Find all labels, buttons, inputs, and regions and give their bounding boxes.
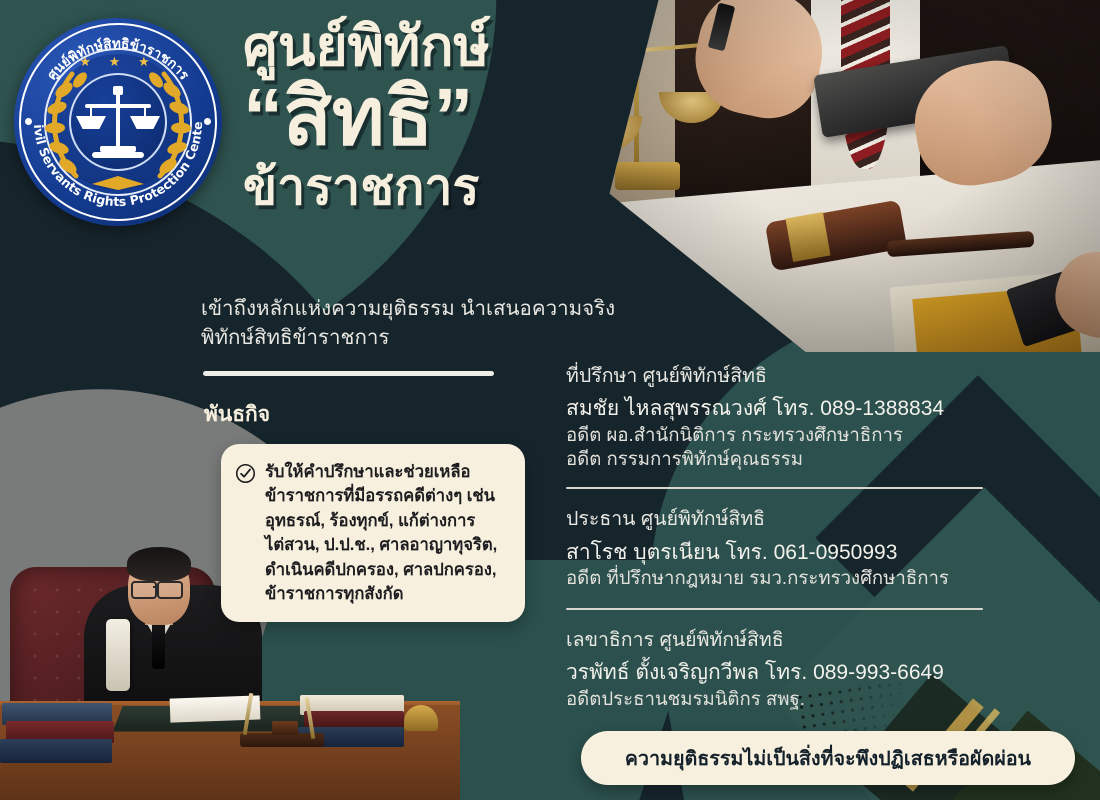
contact-block-advisor: ที่ปรึกษา ศูนย์พิทักษ์สิทธิ สมชัย ไหลสุพ…	[566, 362, 986, 470]
contact-detail-1: อดีต ที่ปรึกษากฎหมาย รมว.กระทรวงศึกษาธิก…	[566, 566, 986, 590]
subtitle-line-1: เข้าถึงหลักแห่งความยุติธรรม นำเสนอความจร…	[201, 294, 631, 323]
poster-root: ศูนย์พิทักษ์สิทธิข้าราชการ Civil Servant…	[0, 0, 1100, 800]
contact-detail-1: อดีตประธานชมรมนิติกร สพฐ.	[566, 687, 986, 711]
title-line-2: “สิทธิ”	[243, 76, 573, 158]
mission-heading: พันธกิจ	[204, 398, 270, 431]
lawyer-photo	[555, 0, 1100, 352]
contact-detail-2: อดีต กรรมการพิทักษ์คุณธรรม	[566, 447, 986, 471]
left-divider	[203, 371, 494, 376]
slogan-text: ความยุติธรรมไม่เป็นสิ่งที่จะพึงปฏิเสธหรื…	[625, 743, 1031, 774]
subtitle-line-2: พิทักษ์สิทธิข้าราชการ	[201, 323, 631, 352]
contact-name-and-phone[interactable]: สมชัย ไหลสุพรรณวงศ์ โทร. 089-1388834	[566, 396, 986, 423]
slogan-banner: ความยุติธรรมไม่เป็นสิ่งที่จะพึงปฏิเสธหรื…	[581, 731, 1075, 785]
contact-name-and-phone[interactable]: สาโรช บุตรเนียน โทร. 061-0950993	[566, 540, 986, 567]
contact-role: เลขาธิการ ศูนย์พิทักษ์สิทธิ	[566, 626, 986, 655]
contact-role: ประธาน ศูนย์พิทักษ์สิทธิ	[566, 505, 986, 534]
contact-name-and-phone[interactable]: วรพัทธ์ ตั้งเจริญกวีพล โทร. 089-993-6649	[566, 660, 986, 687]
organization-logo: ศูนย์พิทักษ์สิทธิข้าราชการ Civil Servant…	[14, 18, 222, 226]
contact-divider-2	[566, 608, 983, 610]
contact-block-president: ประธาน ศูนย์พิทักษ์สิทธิ สาโรช บุตรเนียน…	[566, 505, 986, 590]
contact-divider-1	[566, 487, 983, 489]
title-line-1: ศูนย์พิทักษ์	[243, 18, 573, 74]
scales-of-justice-icon	[80, 84, 156, 164]
subtitle: เข้าถึงหลักแห่งความยุติธรรม นำเสนอความจร…	[201, 294, 631, 352]
page-title: ศูนย์พิทักษ์ “สิทธิ” ข้าราชการ	[243, 18, 573, 213]
title-line-3: ข้าราชการ	[243, 162, 573, 213]
contact-role: ที่ปรึกษา ศูนย์พิทักษ์สิทธิ	[566, 362, 986, 391]
contact-detail-1: อดีต ผอ.สำนักนิติการ กระทรวงศึกษาธิการ	[566, 423, 986, 447]
contacts-section: ที่ปรึกษา ศูนย์พิทักษ์สิทธิ สมชัย ไหลสุพ…	[566, 362, 986, 711]
mission-text: รับให้คำปรึกษาและช่วยเหลือข้าราชการที่มี…	[265, 460, 509, 606]
contact-block-secretary: เลขาธิการ ศูนย์พิทักษ์สิทธิ วรพัทธ์ ตั้ง…	[566, 626, 986, 711]
mission-card: รับให้คำปรึกษาและช่วยเหลือข้าราชการที่มี…	[221, 444, 525, 622]
check-circle-icon	[235, 463, 256, 484]
